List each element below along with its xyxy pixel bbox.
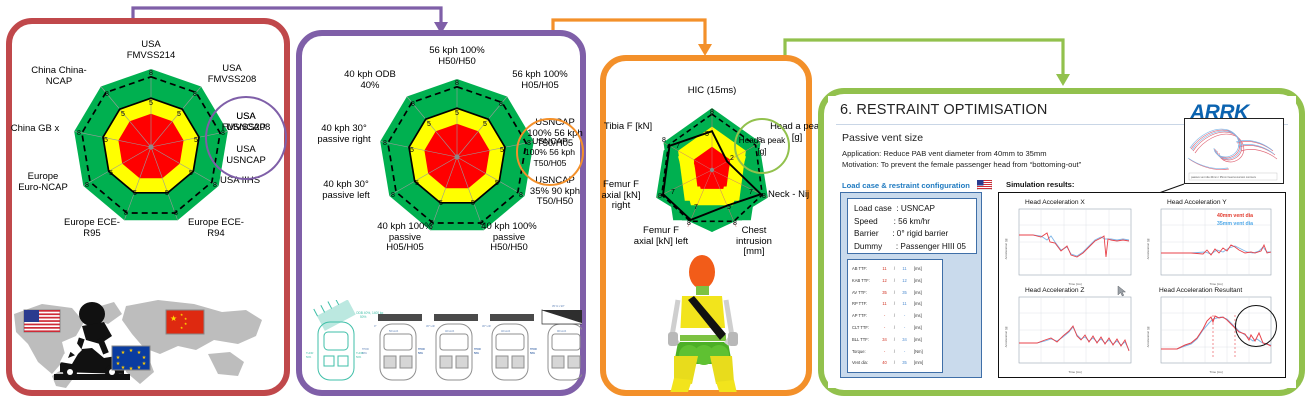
svg-text:5: 5 <box>189 170 193 177</box>
param-unit: [ms] <box>914 310 922 322</box>
loadcase-heading: Load case & restraint configuration <box>842 180 992 192</box>
param-value-baseline: 35 <box>878 287 891 299</box>
param-value-modified: 35 <box>898 357 911 369</box>
svg-text:★: ★ <box>129 348 134 354</box>
svg-text:5: 5 <box>177 111 181 118</box>
radar-axis-label-loadcases-4: 40 kph 100% passive H50/H50 <box>472 222 546 254</box>
svg-text:THOR: THOR <box>362 348 369 351</box>
param-name: Vent dia: <box>852 357 878 369</box>
svg-text:THOR: THOR <box>530 348 537 351</box>
svg-text:2: 2 <box>730 155 734 162</box>
svg-text:5: 5 <box>495 180 499 187</box>
svg-text:7: 7 <box>749 189 753 196</box>
radar-axis-label-loadcases-8: 40 kph ODB 40% <box>332 70 408 91</box>
table-row: AV TTF:35/35[ms] <box>852 287 938 299</box>
svg-text:5: 5 <box>483 121 487 128</box>
svg-text:5: 5 <box>133 190 137 197</box>
param-separator: / <box>891 310 898 322</box>
mouse-cursor-icon <box>1117 285 1127 297</box>
param-value-modified: 34 <box>898 334 911 346</box>
table-row: Vent dia:40/35[mm] <box>852 357 938 369</box>
svg-text:★: ★ <box>184 322 187 326</box>
svg-text:50%: 50% <box>418 352 424 355</box>
param-value-baseline: 11 <box>878 298 891 310</box>
param-separator: / <box>891 275 898 287</box>
table-row: AB TTF:11/11[ms] <box>852 263 938 275</box>
param-name: AV TTF: <box>852 287 878 299</box>
radar-axis-label-standards-0: USA FMVSS214 <box>102 40 200 61</box>
usa-flag <box>24 310 60 332</box>
radar-axis-label-criteria-2: Neck - Nij <box>768 190 818 201</box>
radar-axis-label-standards-6: Europe Euro-NCAP <box>10 172 76 193</box>
eu-flag: ★★★ ★★★ ★★★ ★ <box>112 346 150 372</box>
param-value-baseline: 40 <box>878 357 891 369</box>
radar-axis-label-standards-8: China China- NCAP <box>22 66 96 87</box>
svg-text:7: 7 <box>694 204 698 211</box>
svg-text:7: 7 <box>671 189 675 196</box>
svg-text:8: 8 <box>383 140 387 147</box>
param-name: Torque: <box>852 346 878 358</box>
svg-text:5: 5 <box>415 180 419 187</box>
param-separator: / <box>891 322 898 334</box>
plot-ylabel: Acceleration [g] <box>1146 238 1150 259</box>
param-value-baseline: 12 <box>878 275 891 287</box>
table-row: CLT TTF:-/-[ms] <box>852 322 938 334</box>
callout-standards[interactable]: USA FMVSS208 USA USNCAP <box>205 96 287 180</box>
param-value-modified: 12 <box>898 275 911 287</box>
plot-xlabel: Time [ms] <box>1068 370 1081 374</box>
table-row: BLL TTF:34/34[ms] <box>852 334 938 346</box>
slide-title: 6. RESTRAINT OPTIMISATION <box>840 102 1047 118</box>
param-value-modified: 11 <box>898 263 911 275</box>
svg-text:8: 8 <box>391 192 395 199</box>
svg-text:5: 5 <box>455 110 459 117</box>
loadcase-row: Load case : USNCAP <box>854 203 970 216</box>
loadcase-row: Barrier : 0° rigid barrier <box>854 228 970 241</box>
crash-dummy-artwork <box>634 252 774 392</box>
param-separator: / <box>891 298 898 310</box>
param-unit: [ms] <box>914 275 922 287</box>
plot-xlabel: Time [ms] <box>1209 282 1222 286</box>
impact-config-angled: 35 % x 90° 90 km/h THOR 50% <box>530 304 582 380</box>
svg-text:90 km/h: 90 km/h <box>557 329 567 333</box>
param-name: AP TTF: <box>852 310 878 322</box>
svg-text:5: 5 <box>121 111 125 118</box>
restraint-parameter-table: AB TTF:11/11[ms] KAB TTF:12/12[ms] AV TT… <box>847 259 943 373</box>
param-value-baseline: 11 <box>878 263 891 275</box>
svg-text:8: 8 <box>499 101 503 108</box>
loadcase-row: Dummy : Passenger HIII 05 <box>854 241 970 254</box>
param-unit: [ms] <box>914 263 922 275</box>
svg-text:56 km/h: 56 km/h <box>389 329 399 333</box>
svg-text:7: 7 <box>676 143 680 150</box>
svg-text:5: 5 <box>427 121 431 128</box>
loadcase-details: Load case : USNCAP Speed : 56 km/hr Barr… <box>847 198 977 254</box>
svg-text:5: 5 <box>165 190 169 197</box>
svg-text:8: 8 <box>411 101 415 108</box>
radar-axis-label-standards-4: Europe ECE- R94 <box>178 218 254 239</box>
simulation-heading: Simulation results: <box>1006 180 1074 189</box>
svg-text:5: 5 <box>500 147 504 154</box>
svg-text:★: ★ <box>121 350 126 356</box>
svg-text:★: ★ <box>116 361 121 367</box>
radar-axis-label-loadcases-1: 56 kph 100% H05/H05 <box>500 70 580 91</box>
plot-ylabel: Acceleration [g] <box>1004 238 1008 259</box>
param-value-modified: 11 <box>898 298 911 310</box>
radar-axis-label-standards-1: USA FMVSS208 <box>194 64 270 85</box>
svg-text:★: ★ <box>142 361 147 367</box>
table-row: AP TTF:-/-[ms] <box>852 310 938 322</box>
motivation-text: Motivation: To prevent the female passen… <box>842 160 1081 169</box>
svg-text:★: ★ <box>121 365 126 371</box>
radar-axis-label-loadcases-7: 40 kph 30° passive right <box>308 124 380 145</box>
svg-text:50%: 50% <box>306 355 312 359</box>
loadcase-row: Speed : 56 km/hr <box>854 216 970 229</box>
svg-text:0°: 0° <box>374 324 376 328</box>
svg-text:8: 8 <box>85 182 89 189</box>
radar-axis-label-standards-7: China GB x <box>2 124 68 135</box>
svg-text:35 % x 90°: 35 % x 90° <box>552 304 565 308</box>
svg-text:5: 5 <box>471 200 475 207</box>
param-value-baseline: 34 <box>878 334 891 346</box>
svg-text:5: 5 <box>149 100 153 107</box>
table-row: RP TTF:11/11[ms] <box>852 298 938 310</box>
radar-axis-label-criteria-4: Femur F axial [kN] left <box>628 226 694 247</box>
impact-config-odb: ODB 40%, 1400 kg 50% THOR 50% THOR 50% <box>306 300 384 380</box>
svg-text:★: ★ <box>170 314 177 323</box>
svg-text:8: 8 <box>710 109 714 116</box>
param-name: AB TTF: <box>852 263 878 275</box>
radar-axis-label-criteria-0: HIC (15ms) <box>674 86 750 97</box>
application-text: Application: Reduce PAB vent diameter fr… <box>842 149 1047 158</box>
svg-text:8: 8 <box>658 193 662 200</box>
svg-text:5: 5 <box>439 200 443 207</box>
impact-config-30deg-a: 30° L/R 40 km/h THOR 50% THOR 50% <box>418 314 481 380</box>
svg-text:5: 5 <box>104 137 108 144</box>
callout-criteria[interactable]: Head a peak [g] <box>734 118 790 174</box>
table-row: KAB TTF:12/12[ms] <box>852 275 938 287</box>
param-name: CLT TTF: <box>852 322 878 334</box>
param-value-modified: - <box>898 346 911 358</box>
radar-axis-label-loadcases-5: 40 kph 100% passive H05/H05 <box>368 222 442 254</box>
world-map-artwork: ★★★ ★★★ ★★★ ★ ★ ★★ ★★ <box>8 292 270 390</box>
svg-text:8: 8 <box>193 91 197 98</box>
param-separator: / <box>891 357 898 369</box>
svg-text:50%: 50% <box>356 355 362 359</box>
svg-text:40 km/h: 40 km/h <box>445 329 455 333</box>
table-row: Torque:-/-[Nm] <box>852 346 938 358</box>
svg-text:5: 5 <box>705 131 709 138</box>
plot-xlabel: Time [ms] <box>1209 370 1222 374</box>
svg-text:8: 8 <box>662 137 666 144</box>
param-value-baseline: - <box>878 322 891 334</box>
slide-subheading: Passive vent size <box>842 132 923 144</box>
svg-text:8: 8 <box>124 210 128 217</box>
svg-text:THOR: THOR <box>418 348 425 351</box>
param-unit: [ms] <box>914 298 922 310</box>
param-unit: [ms] <box>914 287 922 299</box>
radar-axis-label-criteria-5: Femur F axial [kN] right <box>594 180 648 212</box>
param-value-modified: - <box>898 322 911 334</box>
legend-series-2: 35mm vent dia <box>1217 221 1253 227</box>
param-value-modified: - <box>898 310 911 322</box>
svg-text:50%: 50% <box>530 352 536 355</box>
param-unit: [ms] <box>914 334 922 346</box>
svg-text:passive vent dia 40mm / 35mm: passive vent dia 40mm / 35mm head excurs… <box>1191 175 1257 179</box>
legend-series-1: 40mm vent dia <box>1217 213 1253 219</box>
svg-text:8: 8 <box>213 182 217 189</box>
svg-text:THOR: THOR <box>306 351 313 355</box>
param-unit: [mm] <box>914 357 923 369</box>
param-separator: / <box>891 334 898 346</box>
zoom-annotation-circle <box>1235 305 1277 347</box>
svg-text:30° L/R: 30° L/R <box>482 324 491 328</box>
plot-ylabel: Acceleration [g] <box>1004 326 1008 347</box>
svg-text:5: 5 <box>194 137 198 144</box>
simulation-results-box: Head Acceleration X Head Acceleration Y … <box>998 192 1286 378</box>
plot-ylabel: Acceleration [g] <box>1146 326 1150 347</box>
svg-text:8: 8 <box>455 80 459 87</box>
radar-axis-label-criteria-6: Tibia F [kN] <box>600 122 656 133</box>
svg-text:★: ★ <box>180 326 183 330</box>
plot-xlabel: Time [ms] <box>1068 282 1081 286</box>
param-unit: [Nm] <box>914 346 923 358</box>
callout-loadcases[interactable]: USNCAP 100% 56 kph T50/H05 <box>516 118 584 186</box>
svg-text:5: 5 <box>727 204 731 211</box>
radar-axis-label-loadcases-0: 56 kph 100% H50/H50 <box>408 46 506 67</box>
svg-text:50%: 50% <box>362 352 368 355</box>
svg-text:THOR: THOR <box>474 348 481 351</box>
svg-text:★: ★ <box>180 313 183 317</box>
param-value-baseline: - <box>878 346 891 358</box>
impact-config-30deg-b: 30° L/R 40 km/h THOR 50% THOR 50% <box>474 314 537 380</box>
svg-text:50%: 50% <box>474 352 480 355</box>
svg-text:8: 8 <box>77 130 81 137</box>
china-flag: ★ ★★ ★★ <box>166 310 204 334</box>
impact-configuration-artwork: ODB 40%, 1400 kg 50% THOR 50% THOR 50% 0… <box>302 300 582 390</box>
param-value-modified: 35 <box>898 287 911 299</box>
svg-text:40 km/h: 40 km/h <box>501 329 511 333</box>
usa-flag-icon <box>977 180 992 192</box>
svg-text:8: 8 <box>149 70 153 77</box>
svg-text:5: 5 <box>410 147 414 154</box>
svg-text:★: ★ <box>137 365 142 371</box>
param-separator: / <box>891 346 898 358</box>
svg-text:★: ★ <box>184 317 187 321</box>
param-name: BLL TTF: <box>852 334 878 346</box>
param-unit: [ms] <box>914 322 922 334</box>
svg-text:8: 8 <box>762 193 766 200</box>
svg-text:30° L/R: 30° L/R <box>426 324 435 328</box>
impact-config-0deg: 0° 56 km/h THOR 50% THOR 50% <box>362 314 425 380</box>
svg-text:5: 5 <box>109 170 113 177</box>
svg-text:8: 8 <box>105 91 109 98</box>
param-name: KAB TTF: <box>852 275 878 287</box>
param-name: RP TTF: <box>852 298 878 310</box>
svg-text:50%: 50% <box>360 315 367 319</box>
radar-axis-label-loadcases-6: 40 kph 30° passive left <box>310 180 382 201</box>
loadcase-config-box: Load case : USNCAP Speed : 56 km/hr Barr… <box>840 192 982 378</box>
svg-text:8: 8 <box>174 210 178 217</box>
loadcase-heading-label: Load case & restraint configuration <box>842 181 970 190</box>
param-separator: / <box>891 287 898 299</box>
head-excursion-wireframe: passive vent dia 40mm / 35mm head excurs… <box>1184 118 1284 184</box>
svg-text:★: ★ <box>129 366 134 372</box>
param-value-baseline: - <box>878 310 891 322</box>
restraint-slide: 6. RESTRAINT OPTIMISATION ARRK Passive v… <box>828 96 1296 388</box>
param-separator: / <box>891 263 898 275</box>
radar-axis-label-standards-5: Europe ECE- R95 <box>54 218 130 239</box>
